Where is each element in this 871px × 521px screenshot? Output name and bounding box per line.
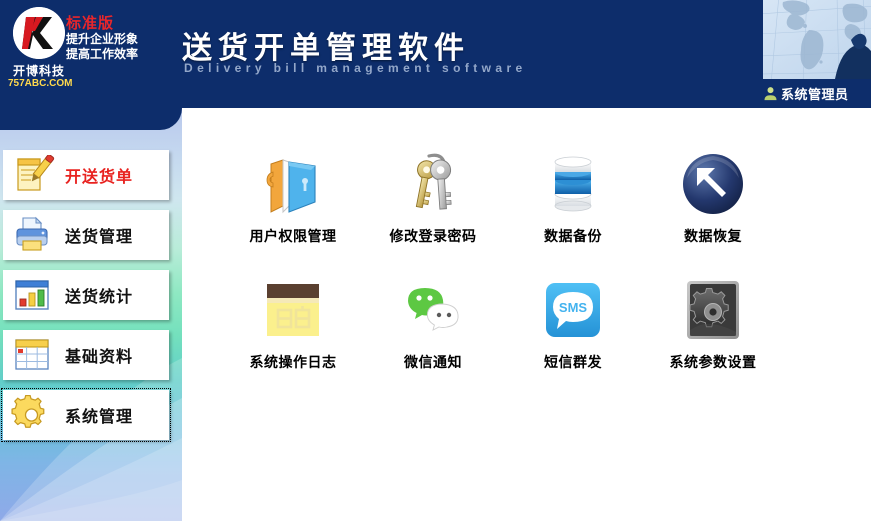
slogan-line-2: 提高工作效率 — [66, 47, 158, 62]
slogan-line-1: 提升企业形象 — [66, 32, 158, 47]
tile-label: 系统操作日志 — [223, 352, 363, 372]
main-content: 用户权限管理 — [182, 108, 871, 521]
sidebar: 开送货单 送货管理 — [0, 108, 182, 521]
tile-label: 短信群发 — [503, 352, 643, 372]
sidebar-item-label: 基础资料 — [65, 343, 133, 367]
keys-icon — [397, 148, 469, 220]
table-grid-icon — [9, 335, 55, 375]
sidebar-item-basic-data[interactable]: 基础资料 — [3, 330, 169, 380]
tile-label: 微信通知 — [363, 352, 503, 372]
tile-label: 修改登录密码 — [363, 226, 503, 246]
new-delivery-note-icon — [9, 155, 55, 195]
world-map-image — [763, 0, 871, 79]
database-icon — [537, 148, 609, 220]
tile-label: 系统参数设置 — [643, 352, 783, 372]
function-tile-grid: 用户权限管理 — [182, 108, 871, 408]
application-window: 开博科技 757ABC.COM 标准版 提升企业形象 提高工作效率 送货开单管理… — [0, 0, 871, 521]
page-subtitle: Delivery bill management software — [184, 61, 527, 75]
sidebar-item-label: 送货管理 — [65, 223, 133, 247]
tile-sms-broadcast[interactable]: SMS 短信群发 — [503, 266, 643, 386]
sidebar-item-new-delivery-note[interactable]: 开送货单 — [3, 150, 169, 200]
bar-chart-icon — [9, 275, 55, 315]
current-user-name: 系统管理员 — [781, 84, 849, 103]
current-user[interactable]: 系统管理员 — [763, 82, 871, 104]
tile-wechat-notification[interactable]: 微信通知 — [363, 266, 503, 386]
tile-data-backup[interactable]: 数据备份 — [503, 140, 643, 260]
restore-arrow-icon — [677, 148, 749, 220]
sidebar-item-label: 系统管理 — [65, 403, 133, 427]
svg-text:SMS: SMS — [559, 300, 588, 315]
tile-data-restore[interactable]: 数据恢复 — [643, 140, 783, 260]
sidebar-nav: 开送货单 送货管理 — [0, 108, 182, 521]
tile-label: 数据恢复 — [643, 226, 783, 246]
tile-label: 用户权限管理 — [223, 226, 363, 246]
sidebar-item-delivery-statistics[interactable]: 送货统计 — [3, 270, 169, 320]
sidebar-item-system-management[interactable]: 系统管理 — [3, 390, 169, 440]
tile-label: 数据备份 — [503, 226, 643, 246]
tile-system-operation-log[interactable]: 系统操作日志 — [223, 266, 363, 386]
logo-company-name: 开博科技 — [8, 62, 70, 79]
company-logo: 开博科技 757ABC.COM — [8, 4, 70, 100]
folder-key-icon — [257, 148, 329, 220]
settings-gear-icon — [677, 274, 749, 346]
sms-bubble-icon: SMS — [537, 274, 609, 346]
log-book-icon — [257, 274, 329, 346]
logo-company-url: 757ABC.COM — [8, 78, 70, 89]
tile-change-password[interactable]: 修改登录密码 — [363, 140, 503, 260]
gear-icon — [9, 395, 55, 435]
edition-badge: 标准版 — [66, 14, 158, 32]
printer-icon — [9, 215, 55, 255]
tile-system-parameter-settings[interactable]: 系统参数设置 — [643, 266, 783, 386]
user-icon — [763, 86, 778, 101]
sidebar-item-delivery-management[interactable]: 送货管理 — [3, 210, 169, 260]
app-header: 开博科技 757ABC.COM 标准版 提升企业形象 提高工作效率 送货开单管理… — [0, 0, 871, 108]
header-corner-notch — [0, 108, 182, 130]
kaibo-logo-icon — [13, 7, 65, 59]
slogan-block: 标准版 提升企业形象 提高工作效率 — [66, 14, 158, 62]
tile-user-permission-management[interactable]: 用户权限管理 — [223, 140, 363, 260]
wechat-icon — [397, 274, 469, 346]
sidebar-item-label: 开送货单 — [65, 163, 133, 187]
sidebar-item-label: 送货统计 — [65, 283, 133, 307]
